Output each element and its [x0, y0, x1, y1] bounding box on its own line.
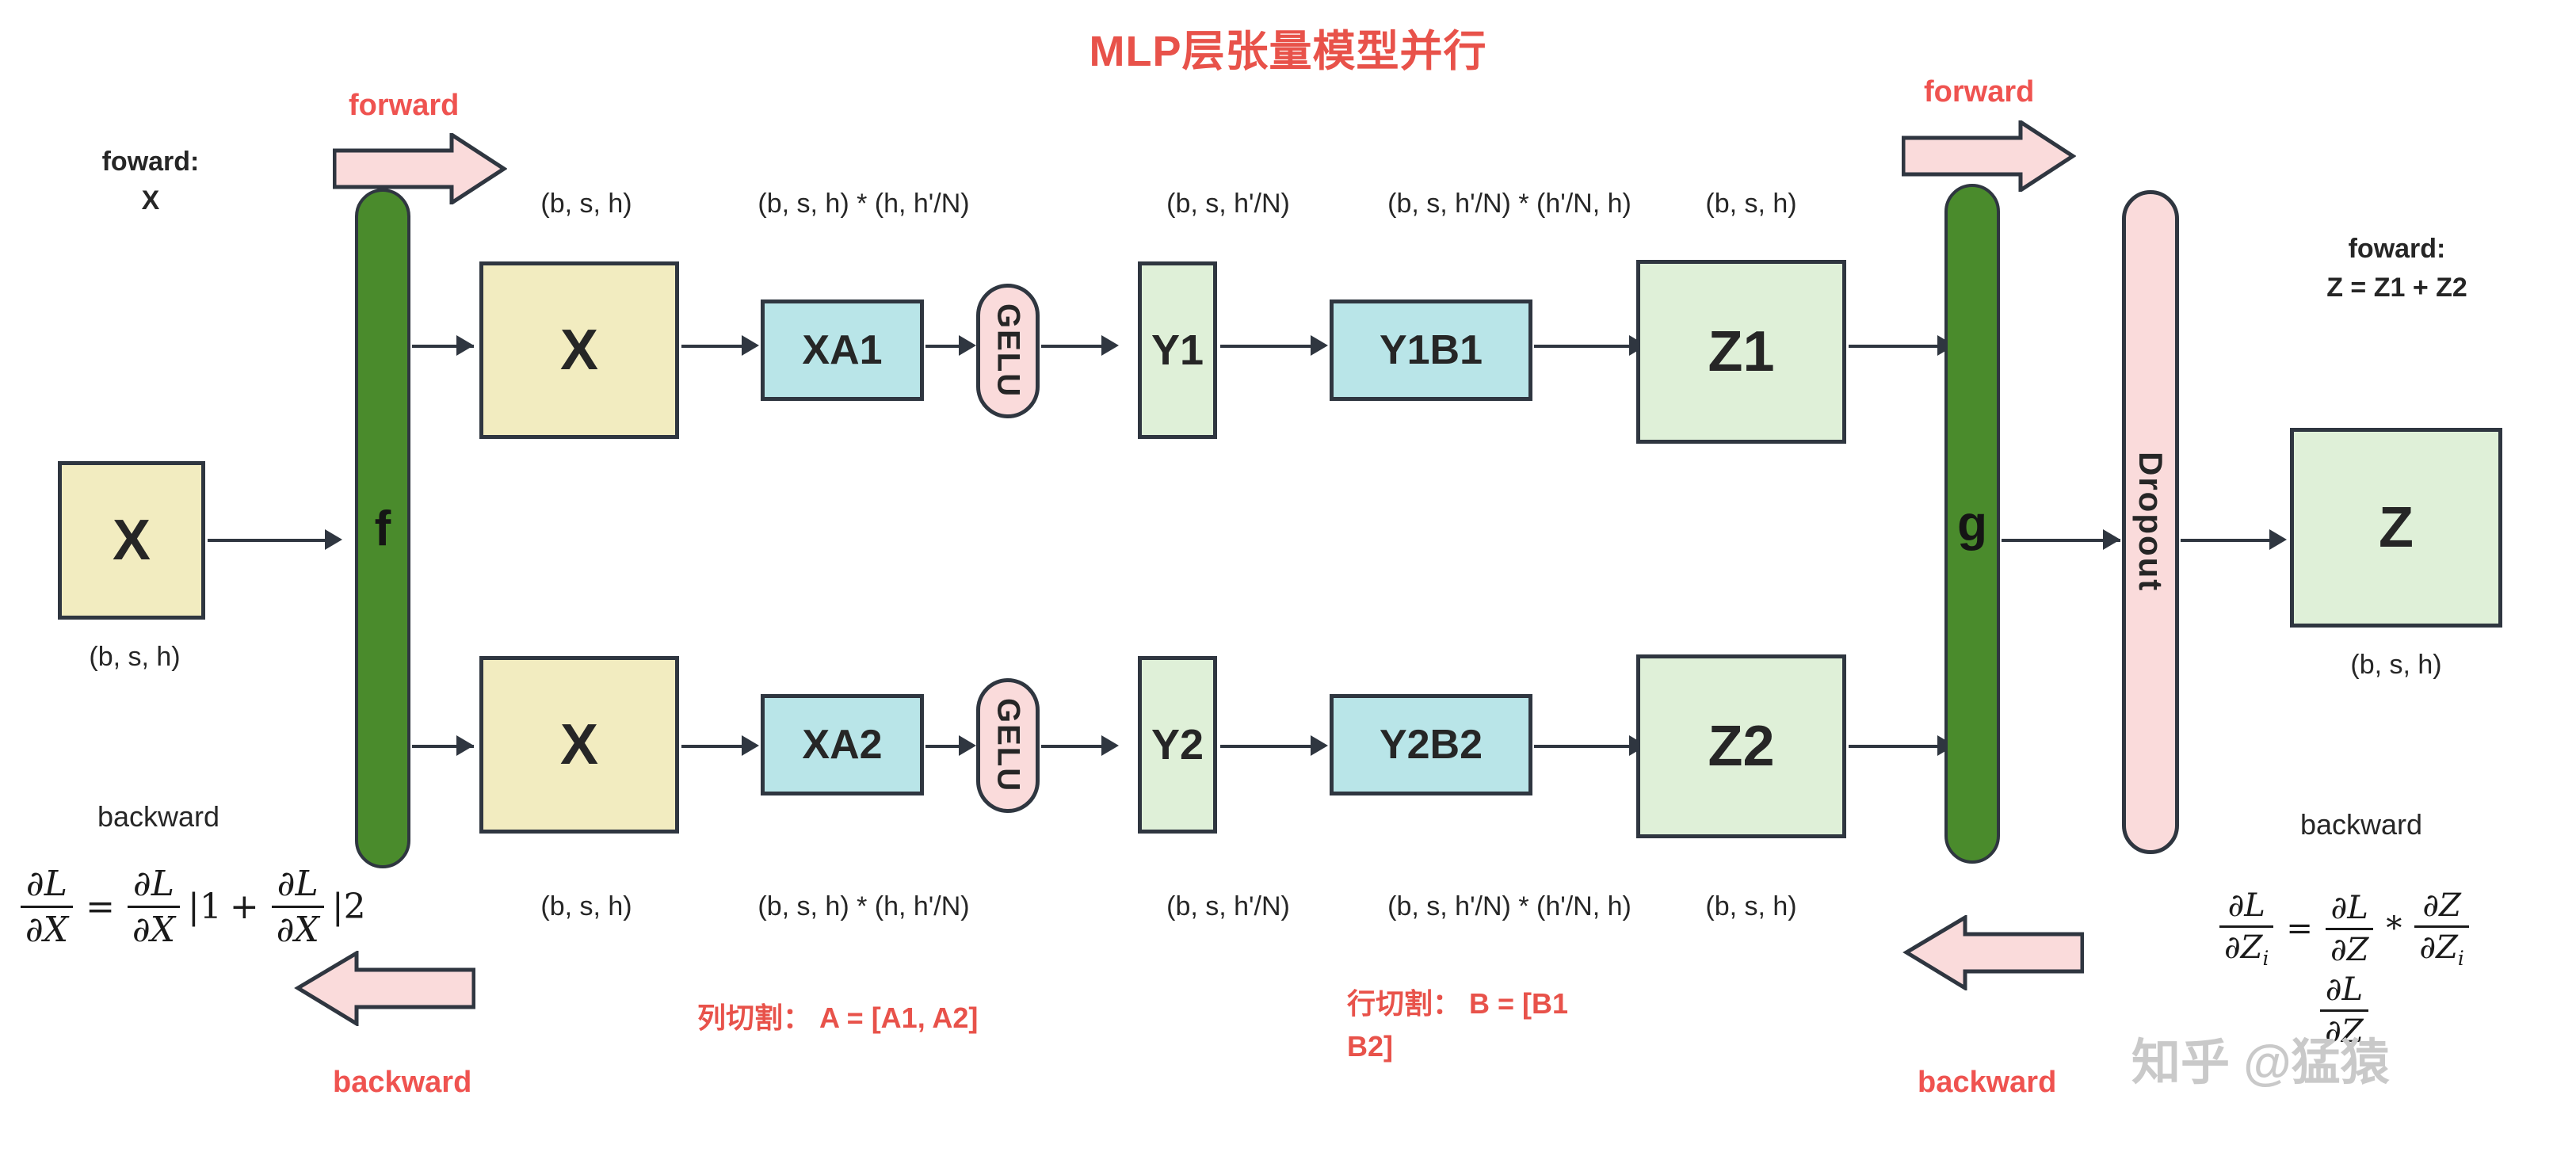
dim-label-bottom-4: (b, s, h)	[1648, 891, 1854, 922]
left-forward-label: forward	[349, 89, 459, 123]
dim-label-bottom-2: (b, s, h'/N)	[1109, 891, 1347, 922]
row-top-gelu-pill: GELU	[976, 284, 1040, 418]
row-bottom-y-box: Y2	[1138, 656, 1217, 834]
forward-arrow-right-icon	[1902, 120, 2076, 192]
dim-label-bottom-3: (b, s, h'/N) * (h'/N, h)	[1315, 891, 1704, 922]
column-split-annotation: 列切割： A = [A1, A2]	[697, 997, 978, 1040]
dropout-pill: Dropout	[2122, 190, 2179, 854]
output-z-box: Z	[2290, 428, 2502, 628]
dim-label-bottom-0: (b, s, h)	[491, 891, 681, 922]
left-backward-formula: ∂L∂X = ∂L∂X |1 + ∂L∂X |2	[16, 864, 366, 950]
row-bottom-yb-box: Y2B2	[1330, 694, 1532, 795]
forward-arrow-left-icon	[333, 133, 507, 204]
dim-label-top-4: (b, s, h)	[1648, 189, 1854, 219]
diagram-canvas: MLP层张量模型并行 foward: X forward X (b, s, h)…	[0, 0, 2576, 1156]
row-bottom-xa-box: XA2	[761, 694, 924, 795]
g-gate-bar: g	[1944, 184, 2000, 864]
right-forward-label: forward	[1924, 75, 2034, 109]
row-bottom-z-box: Z2	[1636, 654, 1846, 838]
dim-label-top-2: (b, s, h'/N)	[1109, 189, 1347, 219]
left-forward-note: foward: X	[48, 143, 254, 221]
left-backward-arrow-label: backward	[333, 1066, 471, 1100]
row-top-z-box: Z1	[1636, 260, 1846, 444]
backward-arrow-left-icon	[293, 951, 475, 1026]
f-gate-label: f	[375, 501, 391, 557]
input-x-dim-label: (b, s, h)	[36, 642, 234, 673]
row-top-yb-box: Y1B1	[1330, 299, 1532, 401]
row-top-y-box: Y1	[1138, 261, 1217, 439]
right-backward-arrow-label: backward	[1918, 1066, 2056, 1100]
dim-label-top-1: (b, s, h) * (h, h'/N)	[705, 189, 1022, 219]
dim-label-bottom-1: (b, s, h) * (h, h'/N)	[705, 891, 1022, 922]
right-forward-note: foward: Z = Z1 + Z2	[2258, 230, 2536, 308]
dim-label-top-0: (b, s, h)	[491, 189, 681, 219]
dim-label-top-3: (b, s, h'/N) * (h'/N, h)	[1315, 189, 1704, 219]
dropout-label: Dropout	[2126, 194, 2175, 850]
f-gate-bar: f	[355, 189, 410, 868]
left-backward-label: backward	[40, 800, 277, 834]
input-x-box: X	[58, 461, 205, 620]
row-split-annotation: 行切割： B = [B1 B2]	[1347, 982, 1568, 1068]
row-bottom-gelu-pill: GELU	[976, 678, 1040, 813]
row-top-gelu-label: GELU	[980, 288, 1036, 414]
watermark: 知乎 @猛猿	[2131, 1022, 2390, 1093]
row-top-x-box: X	[479, 261, 679, 439]
backward-arrow-right-icon	[1902, 915, 2084, 990]
row-bottom-x-box: X	[479, 656, 679, 834]
output-z-dim-label: (b, s, h)	[2290, 650, 2502, 681]
row-bottom-gelu-label: GELU	[980, 682, 1036, 809]
page-title: MLP层张量模型并行	[0, 16, 2576, 78]
right-backward-label: backward	[2242, 808, 2480, 841]
row-top-xa-box: XA1	[761, 299, 924, 401]
g-gate-label: g	[1957, 496, 1987, 552]
